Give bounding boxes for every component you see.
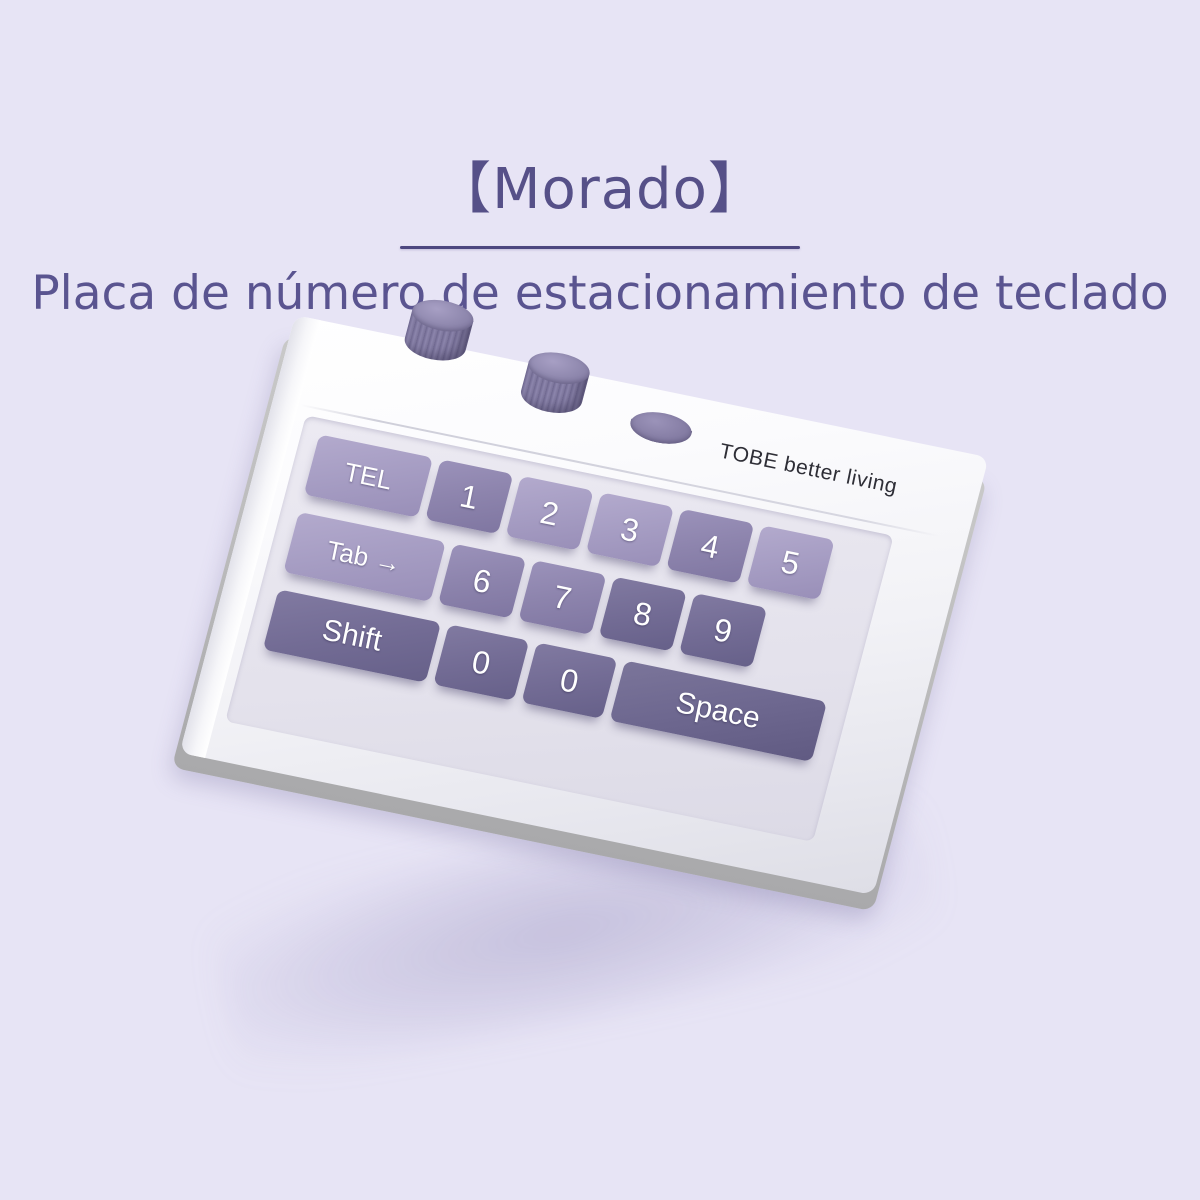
page-header: 【Morado】 Placa de número de estacionamie… — [0, 0, 1200, 360]
keyboard-product-image: TOBE better living TEL 1 2 3 4 5 — [175, 315, 981, 911]
page-title: 【Morado】 — [0, 0, 1200, 218]
product-scene: TOBE better living TEL 1 2 3 4 5 — [0, 330, 1200, 1090]
page-subtitle: Placa de número de estacionamiento de te… — [0, 249, 1200, 318]
